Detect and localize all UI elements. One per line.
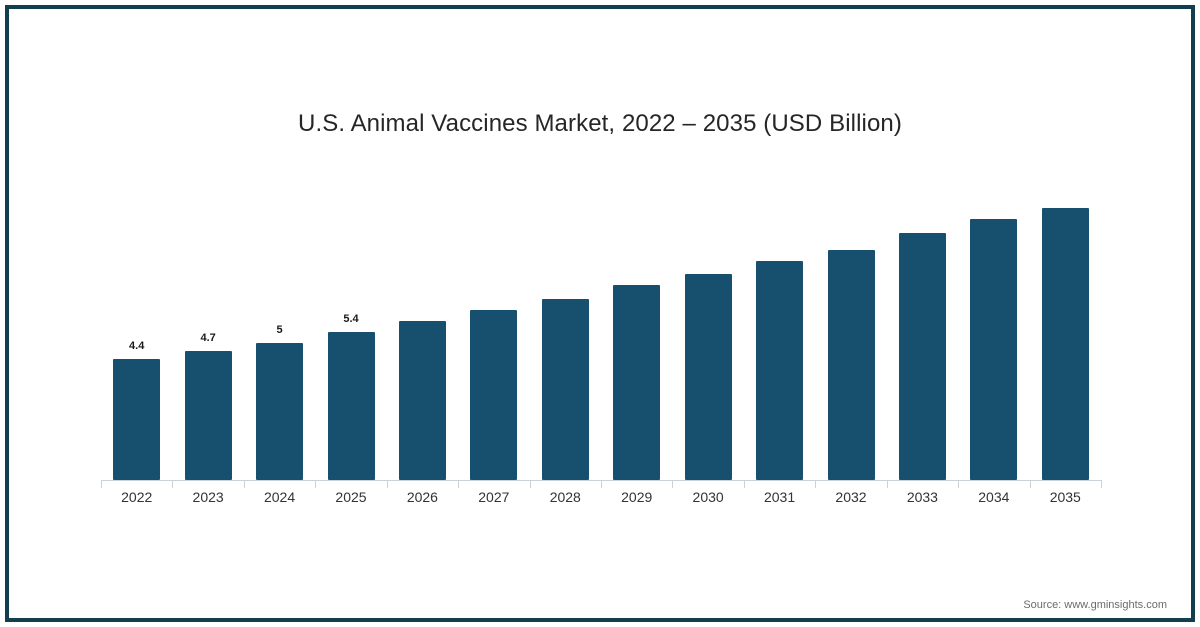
bar-group[interactable] xyxy=(470,170,517,480)
x-tick-label: 2033 xyxy=(887,489,958,505)
bar-rect[interactable] xyxy=(328,332,375,480)
x-axis-tick xyxy=(172,480,173,488)
bars-layer: 4.44.755.4 xyxy=(101,170,1101,480)
bar-value-label: 4.7 xyxy=(200,332,215,344)
bar-value-label: 5 xyxy=(277,324,283,336)
x-tick-label: 2031 xyxy=(744,489,815,505)
bar-group[interactable] xyxy=(756,170,803,480)
bar-rect[interactable] xyxy=(185,351,232,480)
bar-group[interactable]: 4.7 xyxy=(185,170,232,480)
x-tick-label: 2027 xyxy=(458,489,529,505)
x-tick-label: 2023 xyxy=(172,489,243,505)
x-axis-tick xyxy=(1101,480,1102,488)
bar-group[interactable] xyxy=(970,170,1017,480)
source-attribution: Source: www.gminsights.com xyxy=(1023,599,1167,611)
x-tick-label: 2025 xyxy=(315,489,386,505)
x-tick-label: 2022 xyxy=(101,489,172,505)
x-axis-tick xyxy=(815,480,816,488)
x-axis-tick xyxy=(744,480,745,488)
x-tick-label: 2032 xyxy=(815,489,886,505)
bar-group[interactable] xyxy=(828,170,875,480)
bar-rect[interactable] xyxy=(899,233,946,480)
x-tick-label: 2029 xyxy=(601,489,672,505)
chart-figure: U.S. Animal Vaccines Market, 2022 – 2035… xyxy=(0,0,1200,627)
bar-rect[interactable] xyxy=(542,299,589,480)
x-axis-tick xyxy=(458,480,459,488)
bar-group[interactable]: 4.4 xyxy=(113,170,160,480)
chart-title: U.S. Animal Vaccines Market, 2022 – 2035… xyxy=(0,110,1200,138)
bar-rect[interactable] xyxy=(613,285,660,480)
bar-rect[interactable] xyxy=(1042,208,1089,480)
bar-rect[interactable] xyxy=(470,310,517,480)
x-axis-tick xyxy=(1030,480,1031,488)
x-tick-label: 2035 xyxy=(1030,489,1101,505)
bar-value-label: 4.4 xyxy=(129,340,144,352)
x-axis-tick xyxy=(530,480,531,488)
bar-rect[interactable] xyxy=(113,359,160,480)
bar-group[interactable]: 5.4 xyxy=(328,170,375,480)
bar-rect[interactable] xyxy=(756,261,803,480)
bar-group[interactable] xyxy=(542,170,589,480)
x-tick-label: 2028 xyxy=(530,489,601,505)
x-axis-tick xyxy=(315,480,316,488)
x-axis-tick xyxy=(601,480,602,488)
x-axis-tick xyxy=(672,480,673,488)
bar-group[interactable] xyxy=(613,170,660,480)
x-axis-tick xyxy=(387,480,388,488)
bar-group[interactable]: 5 xyxy=(256,170,303,480)
bar-rect[interactable] xyxy=(828,250,875,480)
x-axis-tick xyxy=(887,480,888,488)
x-axis-tick xyxy=(958,480,959,488)
x-axis-tick-labels: 2022202320242025202620272028202920302031… xyxy=(101,489,1101,513)
x-axis-tick xyxy=(101,480,102,488)
bar-group[interactable] xyxy=(1042,170,1089,480)
bar-rect[interactable] xyxy=(399,321,446,480)
bar-rect[interactable] xyxy=(970,219,1017,480)
x-tick-label: 2026 xyxy=(387,489,458,505)
x-axis-tick xyxy=(244,480,245,488)
plot-area: 4.44.755.4 xyxy=(101,170,1101,480)
x-tick-label: 2030 xyxy=(672,489,743,505)
x-tick-label: 2034 xyxy=(958,489,1029,505)
bar-group[interactable] xyxy=(899,170,946,480)
bar-rect[interactable] xyxy=(685,274,732,480)
bar-group[interactable] xyxy=(685,170,732,480)
bar-value-label: 5.4 xyxy=(343,313,358,325)
bar-rect[interactable] xyxy=(256,343,303,480)
bar-group[interactable] xyxy=(399,170,446,480)
x-tick-label: 2024 xyxy=(244,489,315,505)
